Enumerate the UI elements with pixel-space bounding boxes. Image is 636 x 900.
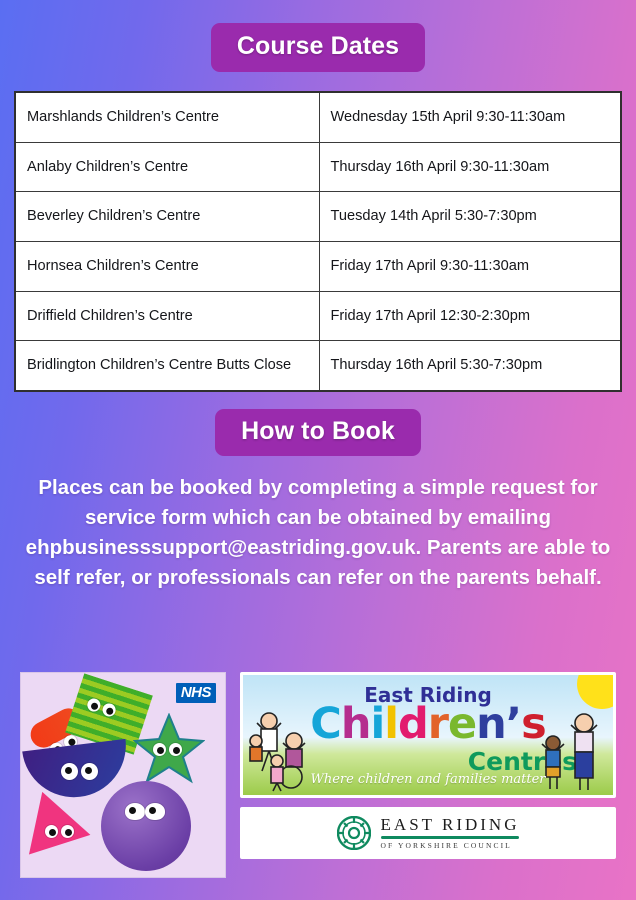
- logo-letter: r: [428, 699, 448, 749]
- datetime-cell: Friday 17th April 9:30-11:30am: [319, 242, 621, 292]
- table-row: Marshlands Children’s Centre Wednesday 1…: [15, 92, 621, 142]
- venue-cell: Marshlands Children’s Centre: [15, 92, 319, 142]
- logo-letter: d: [398, 699, 428, 749]
- venue-cell: Bridlington Children’s Centre Butts Clos…: [15, 341, 319, 391]
- navy-shape-eyes: [61, 763, 98, 780]
- how-to-book-badge: How to Book: [215, 409, 421, 456]
- council-name: EAST RIDING: [381, 816, 520, 833]
- celtic-knot-emblem-icon: [337, 816, 371, 850]
- council-text-block: EAST RIDING OF YORKSHIRE COUNCIL: [381, 816, 520, 850]
- course-dates-header: Course Dates: [0, 0, 636, 72]
- logo-letter: h: [341, 699, 371, 749]
- booking-instructions-text: Places can be booked by completing a sim…: [16, 473, 620, 594]
- datetime-cell: Wednesday 15th April 9:30-11:30am: [319, 92, 621, 142]
- table-row: Driffield Children’s Centre Friday 17th …: [15, 291, 621, 341]
- venue-cell: Driffield Children’s Centre: [15, 291, 319, 341]
- course-dates-table: Marshlands Children’s Centre Wednesday 1…: [14, 91, 622, 392]
- nhs-illustration-card: NHS: [20, 672, 226, 878]
- eye: [61, 825, 74, 838]
- eye: [81, 763, 98, 780]
- eye: [153, 743, 166, 756]
- table-row: Bridlington Children’s Centre Butts Clos…: [15, 341, 621, 391]
- childrens-centres-logo: East Riding Children’s Centres: [240, 672, 616, 798]
- council-divider: [381, 836, 520, 839]
- datetime-cell: Thursday 16th April 9:30-11:30am: [319, 142, 621, 192]
- logo-letter: e: [448, 699, 476, 749]
- datetime-cell: Tuesday 14th April 5:30-7:30pm: [319, 192, 621, 242]
- nhs-shapes-graphic: NHS: [20, 672, 226, 878]
- logo-letter: ’: [506, 699, 521, 749]
- eye: [61, 763, 78, 780]
- how-to-book-header: How to Book: [0, 392, 636, 456]
- eye: [169, 743, 182, 756]
- eye: [145, 803, 165, 820]
- right-logo-column: East Riding Children’s Centres: [240, 672, 616, 888]
- star-shape-eyes: [153, 743, 182, 756]
- datetime-cell: Friday 17th April 12:30-2:30pm: [319, 291, 621, 341]
- logos-section: NHS East Riding Children’s Centres: [0, 672, 636, 888]
- eye: [45, 825, 58, 838]
- venue-cell: Hornsea Children’s Centre: [15, 242, 319, 292]
- poster-page: Course Dates Marshlands Children’s Centr…: [0, 0, 636, 900]
- venue-cell: Anlaby Children’s Centre: [15, 142, 319, 192]
- course-table-container: Marshlands Children’s Centre Wednesday 1…: [0, 91, 636, 392]
- eye: [125, 803, 145, 820]
- triangle-shape-eyes: [45, 825, 74, 838]
- table-row: Anlaby Children’s Centre Thursday 16th A…: [15, 142, 621, 192]
- logo-tagline: Where children and families matter: [243, 772, 613, 787]
- table-row: Hornsea Children’s Centre Friday 17th Ap…: [15, 242, 621, 292]
- venue-cell: Beverley Children’s Centre: [15, 192, 319, 242]
- course-dates-badge: Course Dates: [211, 23, 425, 72]
- datetime-cell: Thursday 16th April 5:30-7:30pm: [319, 341, 621, 391]
- purple-shape-eyes: [125, 803, 165, 820]
- nhs-logo: NHS: [176, 683, 216, 703]
- east-riding-council-logo: EAST RIDING OF YORKSHIRE COUNCIL: [240, 807, 616, 859]
- table-row: Beverley Children’s Centre Tuesday 14th …: [15, 192, 621, 242]
- logo-letter: i: [370, 699, 384, 749]
- council-subtitle: OF YORKSHIRE COUNCIL: [381, 842, 520, 850]
- logo-letter: n: [476, 699, 506, 749]
- purple-circle-shape: [101, 781, 191, 871]
- logo-letter: l: [384, 699, 398, 749]
